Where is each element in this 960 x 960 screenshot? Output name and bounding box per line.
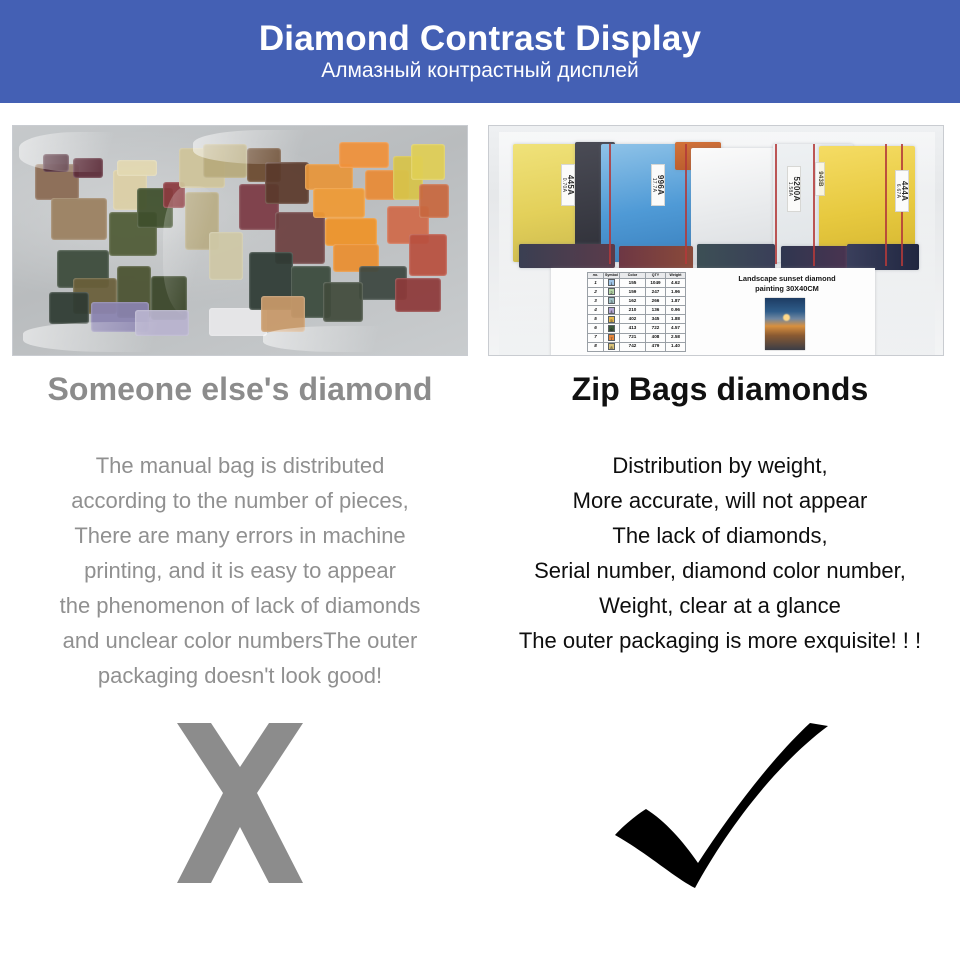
- cell-no: 4: [588, 306, 604, 315]
- symbol-swatch: 8: [608, 343, 615, 350]
- cell-weight: 1.96: [666, 288, 686, 297]
- left-description-line: the phenomenon of lack of diamonds: [0, 588, 480, 623]
- page-title: Diamond Contrast Display: [259, 21, 701, 58]
- cell-no: 3: [588, 297, 604, 306]
- comparison-columns: Someone else's diamond The manual bag is…: [0, 103, 960, 960]
- kit-title-line: painting 30X40CM: [703, 284, 871, 294]
- symbol-swatch: 4: [608, 307, 615, 314]
- manual-bag-photo-frame: [12, 125, 468, 356]
- manual-bag-photo: [13, 126, 467, 355]
- cross-mark-icon: [177, 723, 303, 883]
- kit-instruction-card: no. Symbol Color QTY Weight 1115510494.6…: [551, 268, 875, 356]
- cross-mark-container: [0, 723, 480, 908]
- cell-weight: 0.96: [666, 306, 686, 315]
- left-description-line: The manual bag is distributed: [0, 448, 480, 483]
- cell-color: 742: [620, 342, 646, 351]
- symbol-swatch: 5: [608, 316, 615, 323]
- table-row: 331622661.87: [588, 297, 686, 306]
- left-description-line: There are many errors in machine: [0, 518, 480, 553]
- symbol-swatch: 6: [608, 325, 615, 332]
- left-description-line: packaging doesn't look good!: [0, 658, 480, 693]
- left-description-line: and unclear color numbersThe outer: [0, 623, 480, 658]
- cell-no: 2: [588, 288, 604, 297]
- right-description-line: The lack of diamonds,: [480, 518, 960, 553]
- left-description-line: printing, and it is easy to appear: [0, 553, 480, 588]
- bag-label-996a: 996A 17.7A: [651, 164, 665, 206]
- table-row: 554023451.88: [588, 315, 686, 324]
- cell-qty: 479: [646, 342, 666, 351]
- cell-qty: 1049: [646, 279, 666, 288]
- bag-label-5200a: 5200A 1.58A: [787, 166, 801, 212]
- symbol-swatch: 3: [608, 297, 615, 304]
- page-header: Diamond Contrast Display Алмазный контра…: [0, 0, 960, 103]
- cell-symbol: 2: [604, 288, 620, 297]
- cell-qty: 722: [646, 324, 666, 333]
- table-row: 221592471.96: [588, 288, 686, 297]
- cell-symbol: 1: [604, 279, 620, 288]
- symbol-swatch: 1: [608, 279, 615, 286]
- comparison-column-right: 445A 0.70A 996A 17.7A 5200A 1.58A 943B: [480, 103, 960, 960]
- zip-bag-photo: 445A 0.70A 996A 17.7A 5200A 1.58A 943B: [489, 126, 943, 355]
- table-row: 442101360.96: [588, 306, 686, 315]
- cell-weight: 1.40: [666, 342, 686, 351]
- cell-color: 162: [620, 297, 646, 306]
- table-row: 664137224.57: [588, 324, 686, 333]
- comparison-column-left: Someone else's diamond The manual bag is…: [0, 103, 480, 960]
- left-description: The manual bag is distributed according …: [0, 448, 480, 693]
- right-description-line: More accurate, will not appear: [480, 483, 960, 518]
- cell-no: 6: [588, 324, 604, 333]
- diamond-color-chart-table: no. Symbol Color QTY Weight 1115510494.6…: [587, 272, 686, 352]
- kit-title: Landscape sunset diamond painting 30X40C…: [703, 274, 871, 294]
- cell-qty: 345: [646, 315, 666, 324]
- symbol-swatch: 7: [608, 334, 615, 341]
- cell-qty: 247: [646, 288, 666, 297]
- cell-color: 159: [620, 288, 646, 297]
- right-description-line: Weight, clear at a glance: [480, 588, 960, 623]
- cell-color: 413: [620, 324, 646, 333]
- right-description-line: The outer packaging is more exquisite! !…: [480, 623, 960, 658]
- bag-label-943b: 943B: [815, 162, 825, 196]
- cell-no: 7: [588, 333, 604, 342]
- left-heading: Someone else's diamond: [0, 371, 480, 408]
- kit-preview-thumbnail: [765, 298, 805, 350]
- cell-color: 721: [620, 333, 646, 342]
- table-row: 887424791.40: [588, 342, 686, 351]
- cell-symbol: 4: [604, 306, 620, 315]
- diamond-contrast-display-page: Diamond Contrast Display Алмазный контра…: [0, 0, 960, 960]
- cell-no: 5: [588, 315, 604, 324]
- cell-weight: 4.62: [666, 279, 686, 288]
- cell-symbol: 6: [604, 324, 620, 333]
- chart-table-body: 1115510494.62221592471.96331622661.87442…: [588, 279, 686, 352]
- bag-label-445a: 445A 0.70A: [561, 164, 575, 206]
- cell-symbol: 3: [604, 297, 620, 306]
- cell-symbol: 7: [604, 333, 620, 342]
- cell-weight: 1.87: [666, 297, 686, 306]
- zip-bag-photo-frame: 445A 0.70A 996A 17.7A 5200A 1.58A 943B: [488, 125, 944, 356]
- cell-color: 155: [620, 279, 646, 288]
- table-row: 1115510494.62: [588, 279, 686, 288]
- left-description-line: according to the number of pieces,: [0, 483, 480, 518]
- kit-title-line: Landscape sunset diamond: [703, 274, 871, 284]
- right-heading: Zip Bags diamonds: [480, 371, 960, 408]
- cell-no: 1: [588, 279, 604, 288]
- right-description: Distribution by weight, More accurate, w…: [480, 448, 960, 658]
- cell-weight: 2.58: [666, 333, 686, 342]
- cell-qty: 266: [646, 297, 666, 306]
- cell-no: 8: [588, 342, 604, 351]
- cell-weight: 1.88: [666, 315, 686, 324]
- page-subtitle: Алмазный контрастный дисплей: [321, 59, 639, 82]
- right-description-line: Distribution by weight,: [480, 448, 960, 483]
- cell-symbol: 5: [604, 315, 620, 324]
- table-row: 777214082.58: [588, 333, 686, 342]
- cell-qty: 136: [646, 306, 666, 315]
- symbol-swatch: 2: [608, 288, 615, 295]
- cell-qty: 408: [646, 333, 666, 342]
- cell-color: 210: [620, 306, 646, 315]
- check-mark-icon: [613, 723, 828, 888]
- right-description-line: Serial number, diamond color number,: [480, 553, 960, 588]
- check-mark-container: [480, 723, 960, 908]
- cell-symbol: 8: [604, 342, 620, 351]
- bag-label-444a: 444A 6.67A: [895, 170, 909, 212]
- cell-weight: 4.57: [666, 324, 686, 333]
- cell-color: 402: [620, 315, 646, 324]
